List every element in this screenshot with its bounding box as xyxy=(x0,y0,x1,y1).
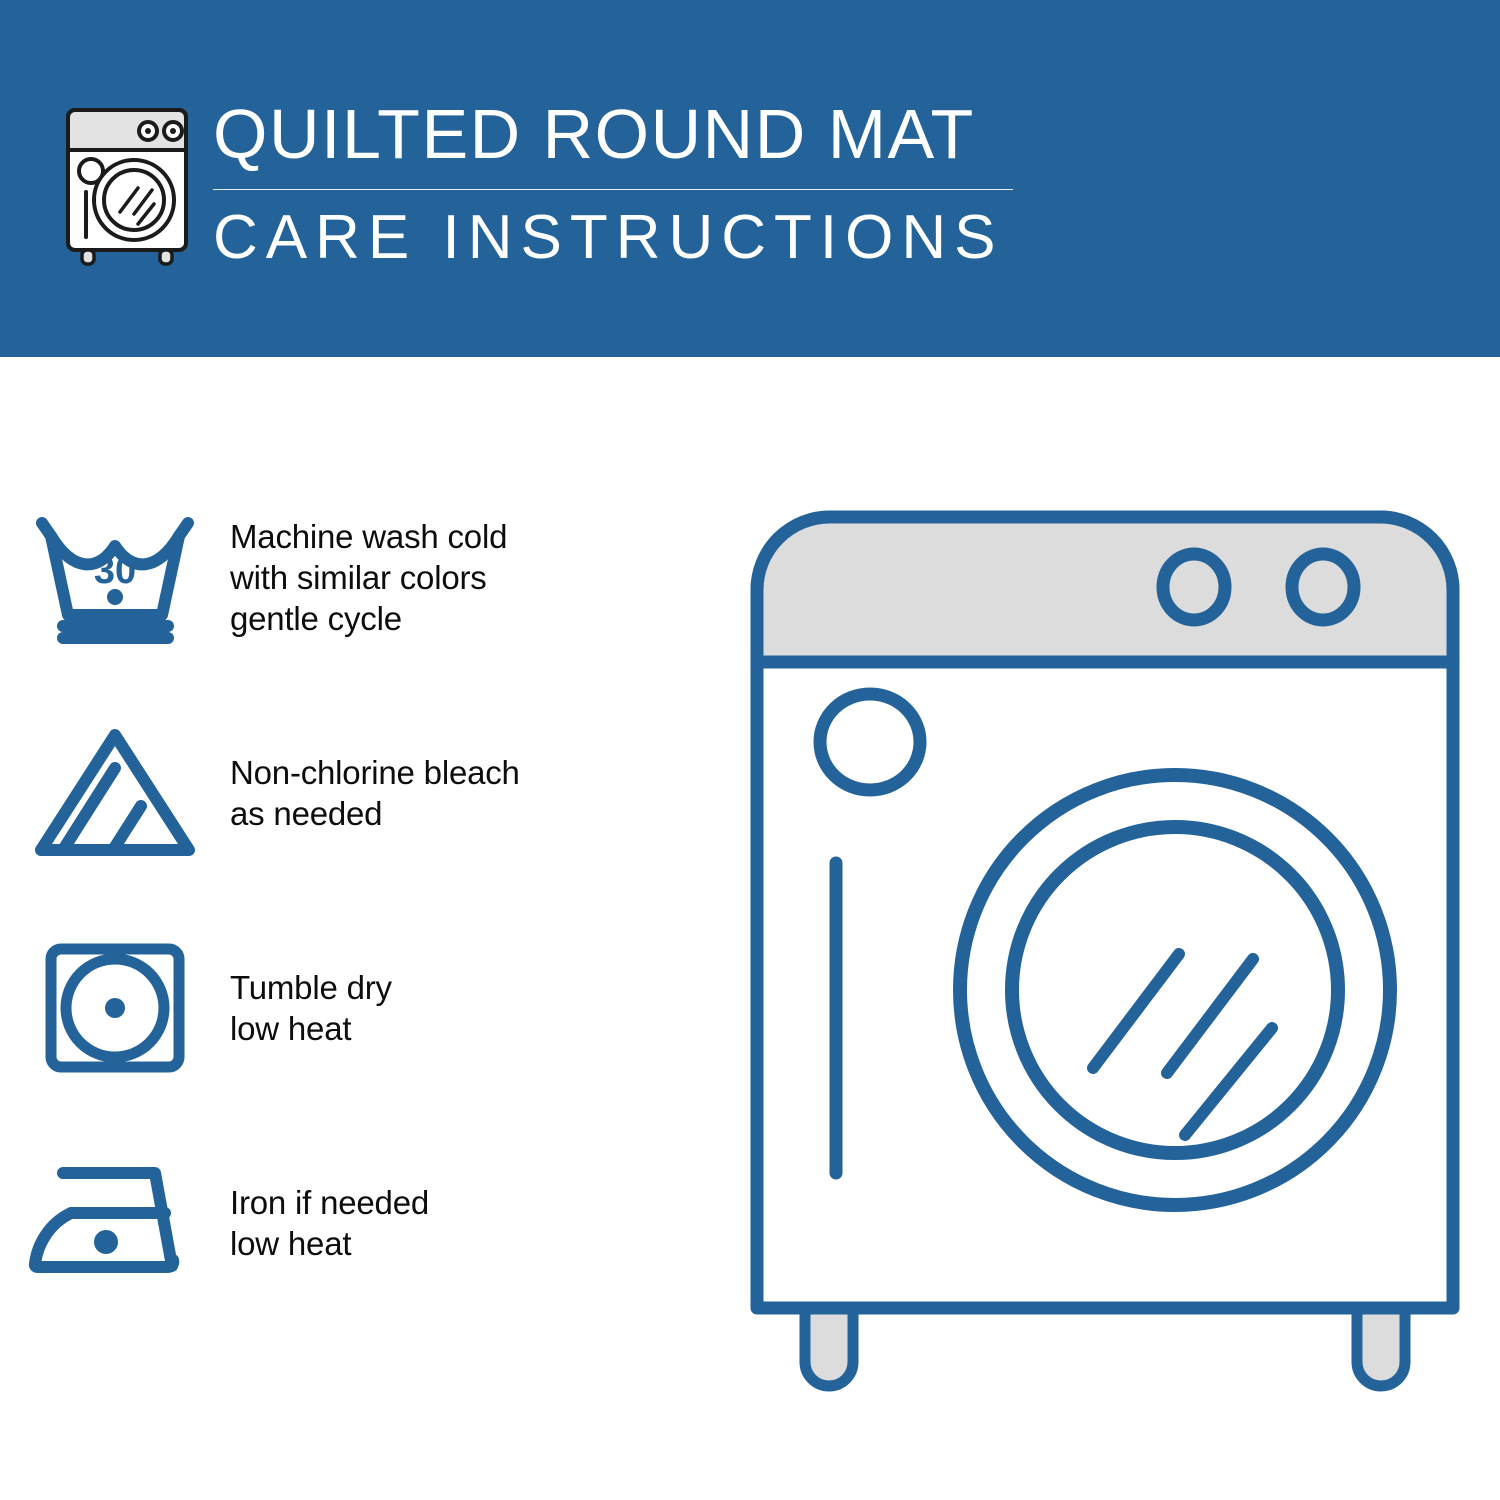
non-chlorine-bleach-triangle-icon xyxy=(0,723,230,863)
care-label-bleach: Non-chlorine bleach as needed xyxy=(230,752,520,834)
care-label-tumble-dry: Tumble dry low heat xyxy=(230,967,392,1049)
washing-machine-icon xyxy=(62,104,192,266)
wash-temperature-value: 30 xyxy=(93,550,135,592)
care-instruction-list: 30 Machine wash cold with similar colors… xyxy=(0,470,720,1330)
front-load-washing-machine-illustration xyxy=(735,495,1475,1405)
care-row-machine-wash: 30 Machine wash cold with similar colors… xyxy=(0,470,720,685)
header-banner: QUILTED ROUND MAT CARE INSTRUCTIONS xyxy=(0,0,1500,357)
title-divider xyxy=(213,189,1013,190)
page-subtitle: CARE INSTRUCTIONS xyxy=(213,204,1018,272)
care-label-iron: Iron if needed low heat xyxy=(230,1182,429,1264)
tumble-dry-low-heat-icon xyxy=(0,938,230,1078)
care-row-tumble-dry: Tumble dry low heat xyxy=(0,900,720,1115)
header-text-block: QUILTED ROUND MAT CARE INSTRUCTIONS xyxy=(213,96,1018,272)
page-title: QUILTED ROUND MAT xyxy=(213,96,1018,172)
wash-tub-30-gentle-icon: 30 xyxy=(0,510,230,645)
care-row-bleach: Non-chlorine bleach as needed xyxy=(0,685,720,900)
care-row-iron: Iron if needed low heat xyxy=(0,1115,720,1330)
care-label-machine-wash: Machine wash cold with similar colors ge… xyxy=(230,516,507,639)
iron-low-heat-icon xyxy=(0,1158,230,1288)
